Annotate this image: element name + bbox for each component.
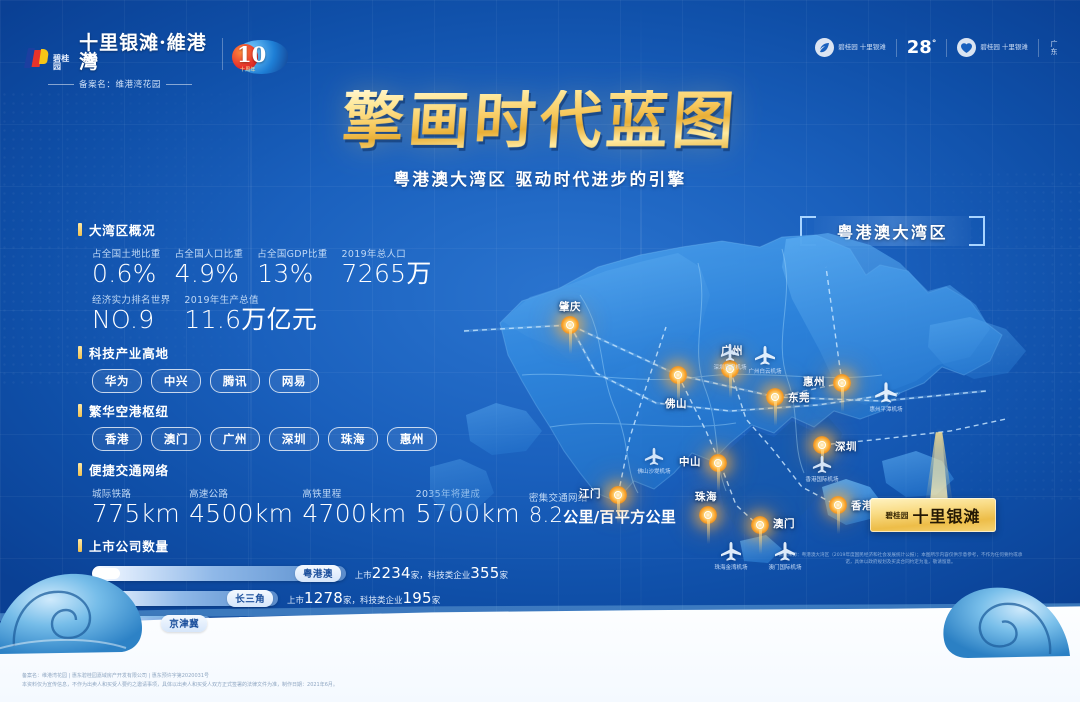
sail-logo-icon	[24, 48, 50, 72]
header-divider	[222, 38, 223, 70]
map-land-far-west	[430, 459, 494, 511]
bar-listed-count: 2234	[372, 564, 411, 582]
map-land-far-east	[928, 317, 1026, 379]
stat-label: 占全国GDP比重	[257, 246, 327, 260]
stat-item: 2019年生产总值 11.6万亿元	[184, 292, 331, 333]
bar-label: 粤港澳	[295, 565, 341, 582]
airport-city-pill[interactable]: 香港	[92, 427, 142, 451]
stat-label: 占全国土地比重	[92, 246, 161, 260]
tech-company-pill[interactable]: 网易	[269, 369, 319, 393]
logo-divider-line	[48, 84, 74, 85]
poster-title: 擎画时代蓝图	[340, 90, 740, 152]
airport-label: 珠海金湾机场	[714, 563, 747, 571]
social-watermark: 碧桂园 十里银滩	[957, 38, 1028, 57]
section-title: 科技产业高地	[89, 343, 169, 362]
stat-label: 2019年生产总值	[184, 292, 317, 306]
map-land-southwest	[466, 403, 542, 455]
property-location-badge[interactable]: 碧桂园 十里银滩	[870, 498, 996, 532]
temperature-value: 28	[907, 37, 932, 58]
social-watermark-label: 碧桂园 十里银滩	[980, 43, 1028, 51]
leaf-icon	[815, 38, 834, 57]
stat-value: 775km	[92, 501, 180, 527]
brand-logo-main-text: 十里银滩·維港灣	[79, 34, 216, 72]
airport-icon-hongkong: 香港国际机场	[810, 455, 834, 475]
header-separator	[896, 39, 897, 57]
stat-item: 占全国人口比重 4.9%	[175, 246, 258, 287]
tech-company-pill[interactable]: 腾讯	[210, 369, 260, 393]
tech-company-pill[interactable]: 华为	[92, 369, 142, 393]
bar-label: 长三角	[227, 590, 273, 607]
stat-label: 城际铁路	[92, 486, 180, 500]
header-separator	[1038, 39, 1039, 57]
airport-label: 深圳宝安机场	[713, 363, 746, 371]
brand-watermark: 碧桂园 十里银滩	[815, 38, 886, 57]
airport-icon-zhuhai: 珠海金湾机场	[718, 541, 744, 563]
brand-logo-subline: 备案名：维港湾花园	[79, 78, 161, 90]
bar-tech-count: 195	[403, 589, 432, 607]
header-vertical-text: 广东	[1049, 40, 1058, 56]
section-marker-icon	[78, 223, 82, 236]
bar-note: 上市1278家，科技类企业195家	[287, 589, 440, 607]
header-right-cluster: 碧桂园 十里银滩 28° 碧桂园 十里银滩 广东	[815, 38, 1058, 57]
stat-item: 占全国土地比重 0.6%	[92, 246, 175, 287]
stat-value: 4700km	[302, 501, 406, 527]
airport-label: 广州白云机场	[748, 367, 781, 375]
heart-icon	[957, 38, 976, 57]
stat-value: 13%	[257, 261, 327, 287]
stat-value: NO.9	[92, 307, 170, 333]
header-separator	[946, 39, 947, 57]
legal-disclaimer: 备案名：维港湾花园 | 惠东碧桂园嘉域房产开发有限公司 | 惠东预许字第2020…	[22, 672, 722, 691]
bar-note-suffix: 家	[432, 596, 441, 606]
temperature-unit: °	[932, 39, 937, 49]
stat-label: 高铁里程	[302, 486, 406, 500]
tech-company-pill[interactable]: 中兴	[151, 369, 201, 393]
section-marker-icon	[78, 463, 82, 476]
bar-listed-count: 1278	[304, 589, 343, 607]
title-block: 擎画时代蓝图 粤港澳大湾区 驱动时代进步的引擎	[0, 90, 1080, 190]
transport-stat: 城际铁路 775km	[92, 486, 189, 527]
stat-label: 高速公路	[189, 486, 293, 500]
section-title: 上市公司数量	[89, 536, 169, 555]
section-marker-icon	[78, 539, 82, 552]
airport-label: 佛山沙堤机场	[637, 467, 670, 475]
bar-note-prefix: 上市	[355, 571, 372, 581]
airport-city-pill[interactable]: 深圳	[269, 427, 319, 451]
poster-header: 碧桂园 十里银滩·維港灣 备案名：维港湾花园 10 十周年 碧桂园 十里银滩	[0, 0, 1080, 92]
temperature-readout: 28°	[907, 39, 937, 57]
stat-label: 经济实力排名世界	[92, 292, 170, 306]
stat-value: 4500km	[189, 501, 293, 527]
brand-logo-small-text: 碧桂园	[53, 55, 76, 72]
airport-icon-huizhou: 惠州平潭机场	[872, 381, 900, 405]
property-name: 十里银滩	[913, 503, 981, 527]
brand-watermark-label: 碧桂园 十里银滩	[838, 43, 886, 51]
logo-divider-line	[166, 84, 192, 85]
shell-decoration-right	[942, 576, 1072, 662]
airport-city-pill[interactable]: 广州	[210, 427, 260, 451]
section-marker-icon	[78, 346, 82, 359]
stat-label: 占全国人口比重	[175, 246, 244, 260]
section-title: 大湾区概况	[89, 220, 156, 239]
property-brand: 碧桂园	[885, 510, 908, 521]
stat-item: 占全国GDP比重 13%	[257, 246, 341, 287]
airport-city-pill[interactable]: 澳门	[151, 427, 201, 451]
anniversary-badge: 10 十周年	[234, 40, 288, 74]
transport-stat: 高铁里程 4700km	[302, 486, 415, 527]
poster-subtitle: 粤港澳大湾区 驱动时代进步的引擎	[0, 166, 1080, 190]
section-marker-icon	[78, 404, 82, 417]
anniversary-number: 10	[237, 44, 266, 65]
airport-icon-foshan: 佛山沙堤机场	[642, 447, 666, 467]
stat-item: 经济实力排名世界 NO.9	[92, 292, 184, 333]
airport-label: 惠州平潭机场	[869, 405, 902, 413]
airport-icon-guangzhou: 广州白云机场	[752, 345, 778, 367]
bar-label: 京津冀	[161, 615, 207, 632]
airport-city-pill[interactable]: 珠海	[328, 427, 378, 451]
brand-logo: 碧桂园 十里银滩·維港灣 备案名：维港湾花园	[24, 34, 216, 90]
stat-value: 7265万	[342, 261, 432, 287]
section-title: 便捷交通网络	[89, 460, 169, 479]
stat-label: 2019年总人口	[342, 246, 432, 260]
stat-value: 4.9%	[175, 261, 244, 287]
airport-label: 香港国际机场	[805, 475, 838, 483]
section-title: 繁华空港枢纽	[89, 401, 169, 420]
stat-value: 0.6%	[92, 261, 161, 287]
disclaimer-line-1: 备案名：维港湾花园 | 惠东碧桂园嘉域房产开发有限公司 | 惠东预许字第2020…	[22, 672, 722, 681]
poster-canvas: 碧桂园 十里银滩·維港灣 备案名：维港湾花园 10 十周年 碧桂园 十里银滩	[0, 0, 1080, 702]
airport-icon-shenzhen: 深圳宝安机场	[718, 343, 742, 363]
bar-note-mid: 家，科技类企业	[343, 596, 403, 606]
anniversary-caption: 十周年	[240, 66, 256, 73]
map-source-note: 数据来源：粤港澳大湾区（2019年度国民经济和社会发展统计公报）；本图所示内容仅…	[778, 552, 1023, 566]
stat-value: 11.6万亿元	[184, 307, 317, 333]
transport-stat: 高速公路 4500km	[189, 486, 302, 527]
disclaimer-line-2: 本资料仅为宣传信息，不作为出卖人和买受人要约之邀请事项，具体以出卖人和买受人双方…	[22, 681, 722, 690]
bar-note-prefix: 上市	[287, 596, 304, 606]
shell-decoration-left	[0, 564, 160, 656]
